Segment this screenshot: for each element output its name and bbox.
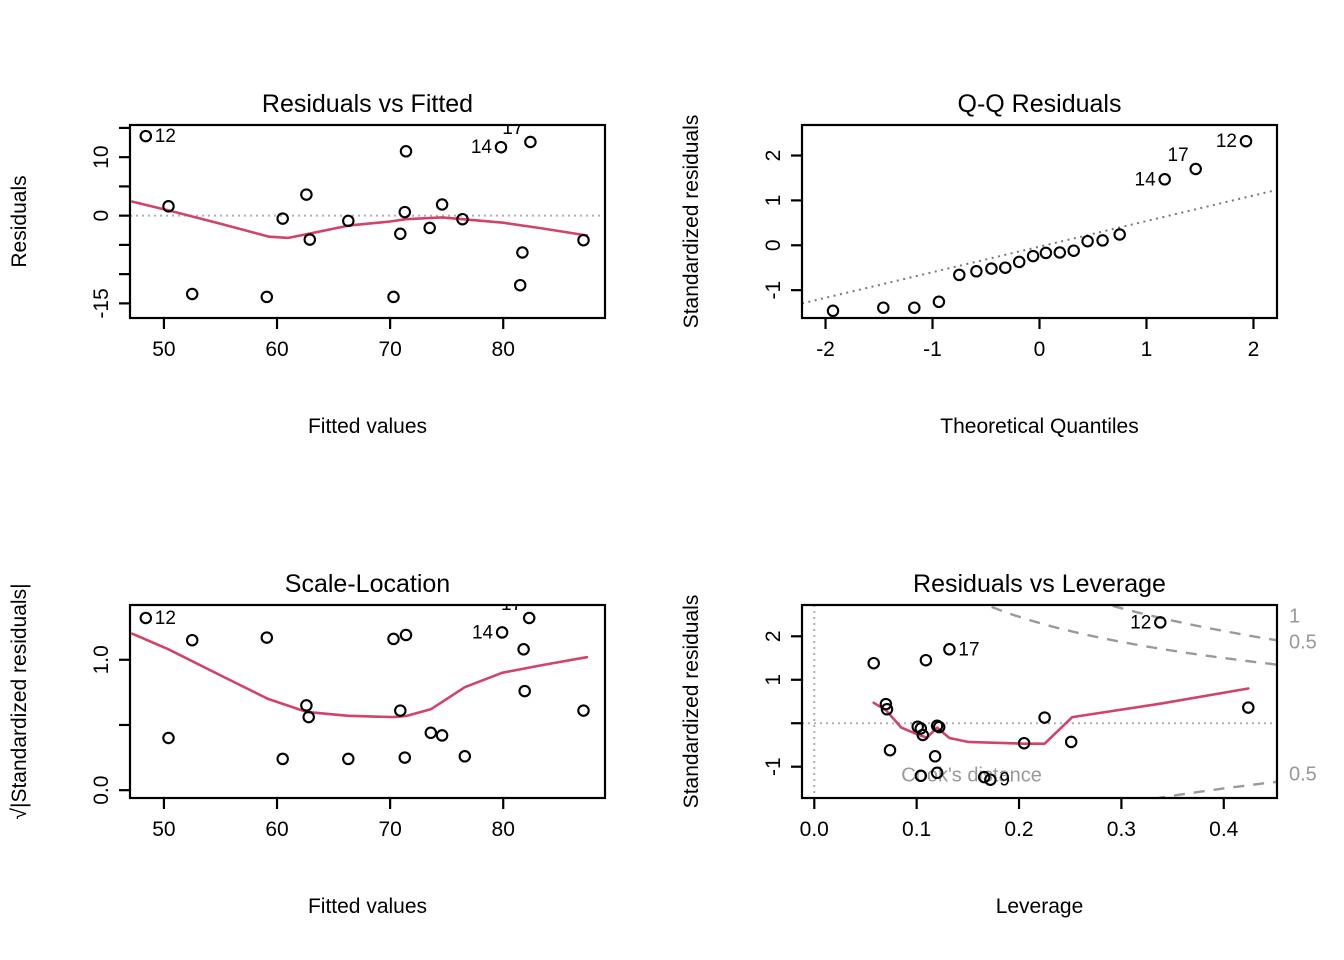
chart-canvas-qq-residuals: Q-Q Residuals141712-2-1012-1012Theoretic… <box>672 0 1344 480</box>
panel-qq-residuals: Q-Q Residuals141712-2-1012-1012Theoretic… <box>672 0 1344 480</box>
plot-frame <box>130 605 605 798</box>
x-axis-title: Leverage <box>996 895 1084 918</box>
data-point <box>388 292 398 302</box>
data-point <box>525 137 535 147</box>
data-point <box>986 263 996 273</box>
x-tick-label: 50 <box>152 818 175 841</box>
y-tick-label: -15 <box>90 288 113 318</box>
chart-title: Q-Q Residuals <box>958 90 1122 118</box>
data-point <box>301 700 311 710</box>
data-point <box>828 306 838 316</box>
data-point <box>1041 248 1051 258</box>
loess-smoother-line <box>874 689 1249 744</box>
data-point <box>262 292 272 302</box>
plot-area: 121417 <box>132 594 588 764</box>
y-tick-label: 1 <box>762 195 785 207</box>
chart-canvas-residuals-vs-fitted: Residuals vs Fitted12141750607080-15010F… <box>0 0 672 480</box>
data-point <box>578 235 588 245</box>
loess-smoother-line <box>132 202 587 238</box>
y-axis-title: Residuals <box>8 175 31 267</box>
plot-frame <box>130 125 605 318</box>
point-label-17: 17 <box>958 639 979 660</box>
data-point <box>518 644 528 654</box>
x-axis-title: Fitted values <box>308 895 427 918</box>
data-point <box>930 751 940 761</box>
data-point <box>388 634 398 644</box>
data-point <box>971 266 981 276</box>
data-point <box>1066 737 1076 747</box>
panel-residuals-vs-leverage: Residuals vs LeverageCook's distance1791… <box>672 480 1344 960</box>
data-point <box>395 705 405 715</box>
plot-frame <box>802 125 1277 318</box>
data-point <box>517 247 527 257</box>
data-point <box>578 705 588 715</box>
data-point <box>1115 229 1125 239</box>
y-tick-label: 0 <box>90 210 113 222</box>
data-point <box>187 635 197 645</box>
y-axis-title: Standardized residuals <box>680 595 703 809</box>
data-point <box>187 289 197 299</box>
data-point <box>497 627 507 637</box>
x-tick-label: 60 <box>265 818 288 841</box>
data-point <box>934 297 944 307</box>
data-point <box>141 131 151 141</box>
data-point <box>869 658 879 668</box>
y-tick-label: 2 <box>762 150 785 162</box>
x-tick-label: 0.1 <box>902 818 931 841</box>
data-point <box>1241 136 1251 146</box>
x-tick-label: 50 <box>152 338 175 361</box>
cooks-level-label: 0.5 <box>1289 764 1317 786</box>
point-label-12: 12 <box>1130 612 1151 633</box>
plot-area: 121417 <box>130 118 605 302</box>
x-tick-label: 0.4 <box>1209 818 1239 841</box>
data-point <box>496 142 506 152</box>
y-tick-label: 1.0 <box>90 645 113 674</box>
data-point <box>1243 702 1253 712</box>
data-point <box>1160 174 1170 184</box>
x-tick-label: 0.0 <box>800 818 829 841</box>
data-point <box>304 712 314 722</box>
y-tick-label: 2 <box>762 630 785 642</box>
x-tick-label: 2 <box>1248 338 1260 361</box>
x-tick-label: 70 <box>378 818 401 841</box>
diagnostic-plot-grid: Residuals vs Fitted12141750607080-15010F… <box>0 0 1344 960</box>
data-point <box>395 229 405 239</box>
data-point <box>1039 712 1049 722</box>
data-point <box>400 207 410 217</box>
data-point <box>954 270 964 280</box>
point-label-9: 9 <box>999 770 1010 791</box>
data-point <box>944 644 954 654</box>
chart-title: Residuals vs Fitted <box>262 90 473 118</box>
cooks-distance-label: Cook's distance <box>901 764 1042 786</box>
data-point <box>1191 164 1201 174</box>
point-label-14: 14 <box>472 622 494 643</box>
x-axis-title: Fitted values <box>308 415 427 438</box>
data-point <box>262 632 272 642</box>
x-tick-label: 60 <box>265 338 288 361</box>
data-point <box>524 613 534 623</box>
y-tick-label: 0.0 <box>90 776 113 805</box>
data-point <box>141 613 151 623</box>
data-point <box>1014 257 1024 267</box>
data-point <box>278 754 288 764</box>
point-label-12: 12 <box>1216 131 1237 152</box>
y-tick-label: 0 <box>762 239 785 251</box>
x-tick-label: 80 <box>492 338 515 361</box>
point-label-12: 12 <box>155 126 176 147</box>
data-point <box>460 751 470 761</box>
cooks-level-label: 0.5 <box>1289 631 1317 653</box>
data-point <box>515 280 525 290</box>
data-point <box>401 146 411 156</box>
data-point <box>1097 235 1107 245</box>
x-tick-label: 0.2 <box>1004 818 1033 841</box>
x-tick-label: 80 <box>492 818 515 841</box>
x-tick-label: 1 <box>1141 338 1153 361</box>
point-label-17: 17 <box>1168 145 1189 166</box>
data-point <box>885 745 895 755</box>
data-point <box>1082 236 1092 246</box>
point-label-14: 14 <box>1135 169 1157 190</box>
chart-title: Scale-Location <box>285 570 450 598</box>
data-point <box>343 754 353 764</box>
plot-area: Cook's distance17912 <box>802 488 1277 917</box>
y-tick-label: 1 <box>762 674 785 686</box>
x-tick-label: -2 <box>816 338 835 361</box>
chart-canvas-scale-location: Scale-Location121417506070800.01.0Fitted… <box>0 480 672 960</box>
data-point <box>425 223 435 233</box>
data-point <box>1069 246 1079 256</box>
y-tick-label: 10 <box>90 145 113 168</box>
y-tick-label: -1 <box>762 281 785 300</box>
data-point <box>878 303 888 313</box>
data-point <box>400 752 410 762</box>
data-point <box>921 655 931 665</box>
cooks-level-label: 1 <box>1289 605 1300 627</box>
qq-theoretical-line <box>802 190 1277 304</box>
x-tick-label: 0 <box>1034 338 1046 361</box>
x-tick-label: 0.3 <box>1107 818 1136 841</box>
chart-title: Residuals vs Leverage <box>913 570 1166 598</box>
cooks-distance-contour <box>909 488 1277 641</box>
x-tick-label: -1 <box>923 338 942 361</box>
data-point <box>1028 251 1038 261</box>
data-point <box>401 630 411 640</box>
x-tick-label: 70 <box>378 338 401 361</box>
data-point <box>301 189 311 199</box>
chart-canvas-residuals-vs-leverage: Residuals vs LeverageCook's distance1791… <box>672 480 1344 960</box>
data-point <box>163 733 173 743</box>
point-label-12: 12 <box>155 608 176 629</box>
data-point <box>305 234 315 244</box>
data-point <box>916 723 926 733</box>
y-tick-label: -1 <box>762 757 785 776</box>
x-axis-title: Theoretical Quantiles <box>940 415 1138 438</box>
data-point <box>909 303 919 313</box>
data-point <box>520 686 530 696</box>
plot-area: 141712 <box>802 131 1277 316</box>
y-axis-title: √|Standardized residuals| <box>8 583 31 819</box>
data-point <box>1055 247 1065 257</box>
data-point <box>1000 263 1010 273</box>
point-label-14: 14 <box>471 137 493 158</box>
data-point <box>426 728 436 738</box>
y-axis-title: Standardized residuals <box>680 115 703 329</box>
point-label-17: 17 <box>502 118 523 139</box>
data-point <box>437 199 447 209</box>
data-point <box>437 730 447 740</box>
panel-scale-location: Scale-Location121417506070800.01.0Fitted… <box>0 480 672 960</box>
panel-residuals-vs-fitted: Residuals vs Fitted12141750607080-15010F… <box>0 0 672 480</box>
data-point <box>278 213 288 223</box>
